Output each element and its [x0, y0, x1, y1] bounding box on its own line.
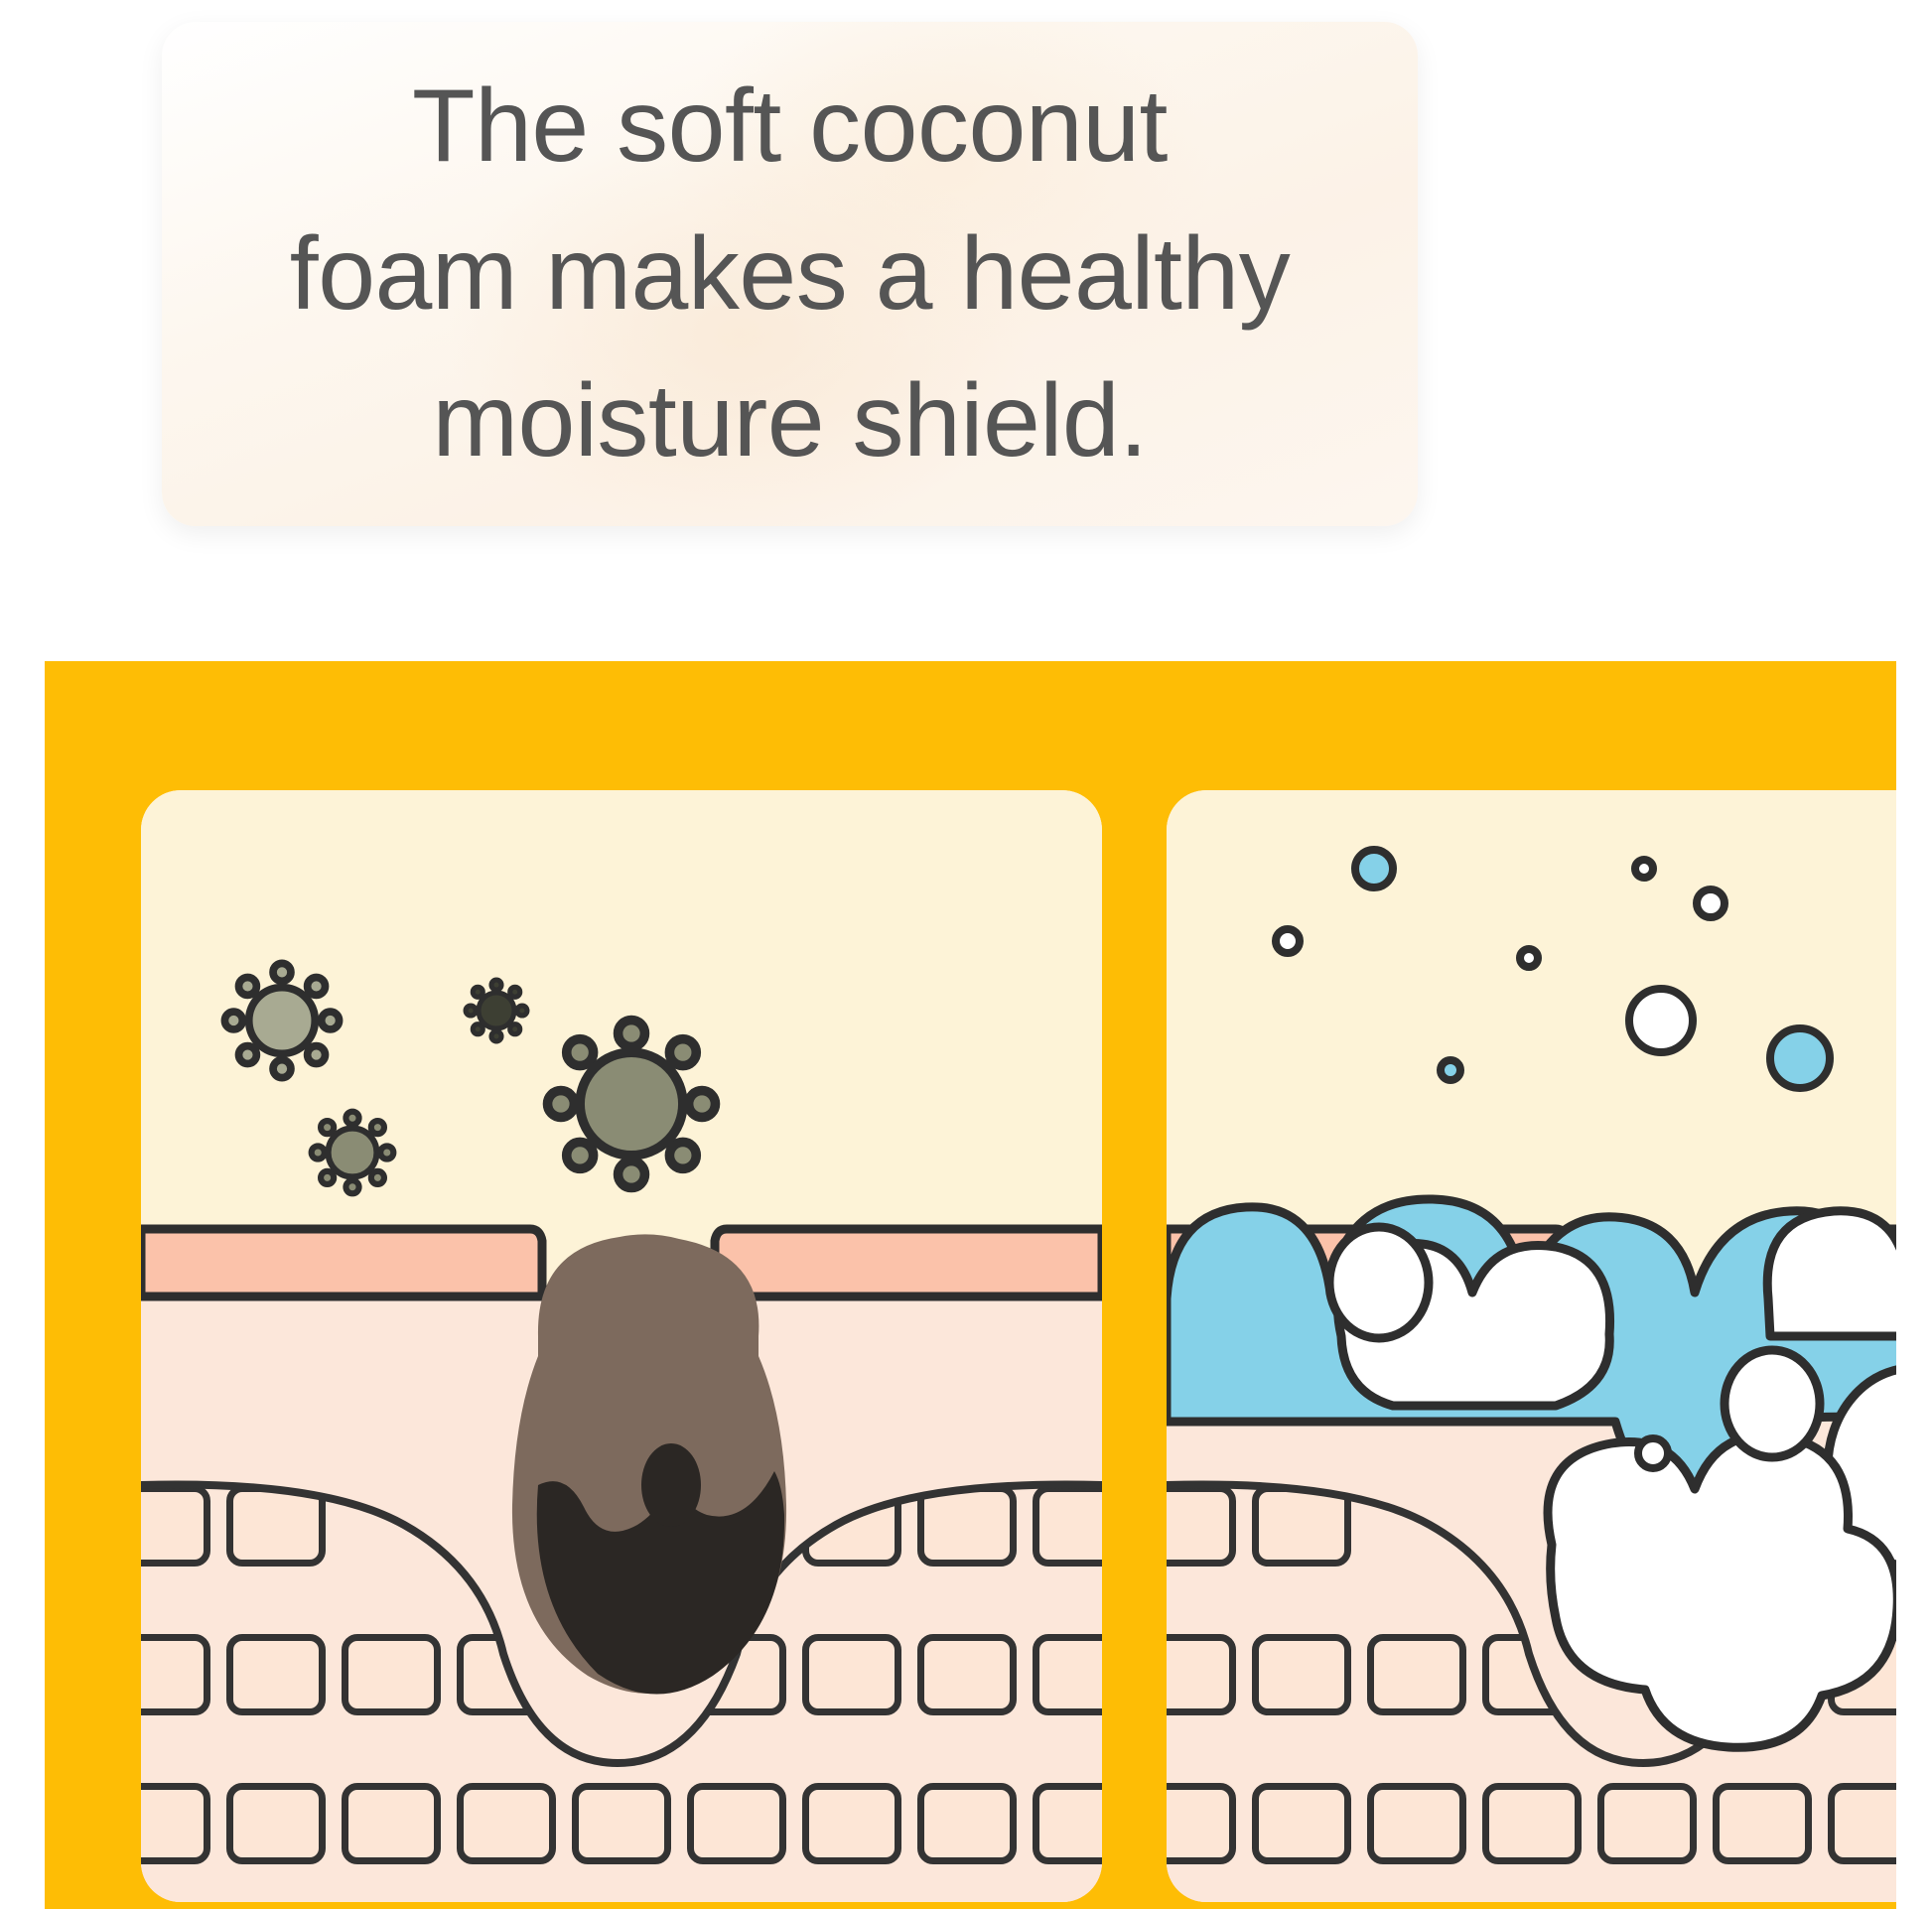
foam-white-blobs [1167, 1088, 1896, 1842]
bubble-icon [1625, 985, 1697, 1056]
headline-card: The soft coconut foam makes a healthy mo… [162, 22, 1418, 526]
skin-cell [226, 1783, 326, 1864]
bubble-icon [1437, 1056, 1464, 1084]
blackhead-plug [389, 1187, 905, 1803]
skin-cell [917, 1783, 1017, 1864]
skin-cell [1033, 1783, 1102, 1864]
after-panel [1167, 790, 1896, 1902]
bubble-icon [1351, 846, 1397, 891]
germ-icon [218, 957, 345, 1084]
germ-icon [306, 1106, 399, 1199]
skin-cell [141, 1783, 210, 1864]
skin-comparison-illustration [45, 661, 1896, 1909]
germ-icon [461, 975, 532, 1046]
before-panel [141, 790, 1102, 1902]
bubble-icon [1516, 945, 1542, 971]
bubble-icon [1631, 856, 1657, 882]
bubble-icon [1766, 1024, 1834, 1092]
germ-icon [536, 1009, 727, 1199]
page-title: The soft coconut foam makes a healthy mo… [290, 53, 1290, 495]
bubble-icon [1272, 925, 1304, 957]
bubble-icon [1693, 886, 1728, 921]
